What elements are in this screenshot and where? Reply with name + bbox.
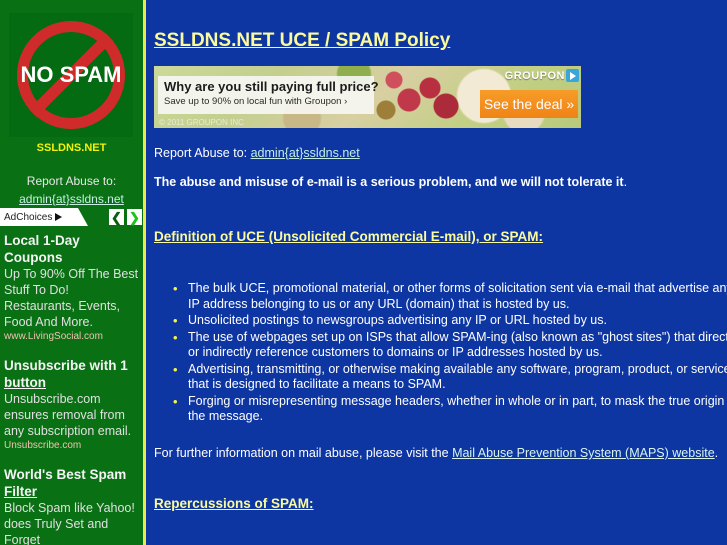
sidebar-ad-title-line1: World's Best Spam — [4, 467, 126, 482]
spam-definition-list: The bulk UCE, promotional material, or o… — [168, 281, 727, 426]
sidebar-brand-caption: SSLDNS.NET — [0, 142, 143, 154]
lead-statement: The abuse and misuse of e-mail is a seri… — [154, 175, 627, 189]
sidebar-ad-title-line1: Local 1-Day Coupons — [4, 233, 80, 265]
banner-cta-button[interactable]: See the deal » — [480, 90, 578, 118]
list-item: The use of webpages set up on ISPs that … — [188, 330, 727, 361]
section-heading-definition: Definition of UCE (Unsolicited Commercia… — [154, 229, 543, 244]
section-heading-repercussions: Repercussions of SPAM: — [154, 496, 314, 511]
sidebar-ad-title-line2: button — [4, 375, 46, 390]
list-item: The bulk UCE, promotional material, or o… — [188, 281, 727, 312]
ad-next-arrow-icon[interactable]: ❯ — [126, 208, 143, 226]
main-report-abuse-line: Report Abuse to: admin{at}ssldns.net — [154, 146, 360, 160]
adchoices-bar: AdChoices ❮ ❯ — [0, 208, 143, 226]
banner-subline: Save up to 90% on local fun with Groupon… — [164, 95, 368, 108]
adchoices-label: AdChoices — [4, 212, 52, 223]
banner-text-overlay: Why are you still paying full price? Sav… — [158, 76, 374, 114]
maps-website-link[interactable]: Mail Abuse Prevention System (MAPS) webs… — [452, 446, 715, 460]
sidebar-ad-title-line2: Filter — [4, 484, 37, 499]
sidebar-ad-title[interactable]: Local 1-Day Coupons — [4, 232, 141, 266]
adchoices-triangle-icon — [55, 213, 62, 221]
list-item: Forging or misrepresenting message heade… — [188, 394, 727, 425]
banner-headline: Why are you still paying full price? — [164, 79, 368, 95]
further-information-line: For further information on mail abuse, p… — [154, 446, 718, 460]
groupon-banner-ad[interactable]: Why are you still paying full price? Sav… — [154, 66, 581, 128]
banner-copyright: © 2011 GROUPON INC — [159, 118, 244, 127]
page-root: NO SPAM SSLDNS.NET Report Abuse to: admi… — [0, 0, 727, 545]
sidebar-ad-body: Unsubscribe.com ensures removal from any… — [4, 391, 141, 439]
no-spam-logo-text: NO SPAM — [9, 62, 133, 88]
main-content: SSLDNS.NET UCE / SPAM Policy Why are you… — [146, 0, 727, 545]
main-report-abuse-email-link[interactable]: admin{at}ssldns.net — [251, 146, 360, 160]
sidebar-ad-title-line1: Unsubscribe with 1 — [4, 358, 128, 373]
sidebar-ad-body: Block Spam like Yahoo! does Truly Set an… — [4, 500, 141, 545]
list-item: Unsolicited postings to newsgroups adver… — [188, 313, 727, 329]
sidebar-ad-url: Unsubscribe.com — [4, 439, 141, 453]
page-title: SSLDNS.NET UCE / SPAM Policy — [154, 30, 450, 52]
groupon-logo: GROUPON — [505, 70, 565, 82]
further-info-suffix: . — [715, 446, 718, 460]
sidebar-ad-body: Up To 90% Off The Best Stuff To Do! Rest… — [4, 266, 141, 330]
lead-statement-text: The abuse and misuse of e-mail is a seri… — [154, 175, 624, 189]
sidebar-ad-url: www.LivingSocial.com — [4, 330, 141, 344]
sidebar-report-abuse-email-link[interactable]: admin{at}ssldns.net — [0, 192, 143, 206]
no-spam-logo: NO SPAM — [9, 13, 133, 137]
adchoices-button[interactable]: AdChoices — [0, 208, 88, 226]
sidebar-ad-item[interactable]: Unsubscribe with 1 button Unsubscribe.co… — [4, 357, 141, 453]
sidebar-ads-list: Local 1-Day Coupons Up To 90% Off The Be… — [4, 232, 141, 545]
lead-statement-period: . — [624, 175, 627, 189]
list-item: Advertising, transmitting, or otherwise … — [188, 362, 727, 393]
sidebar-ad-title[interactable]: Unsubscribe with 1 button — [4, 357, 141, 391]
sidebar-ad-item[interactable]: World's Best Spam Filter Block Spam like… — [4, 466, 141, 545]
banner-adchoices-icon[interactable] — [566, 69, 579, 82]
sidebar-ad-title[interactable]: World's Best Spam Filter — [4, 466, 141, 500]
further-info-prefix: For further information on mail abuse, p… — [154, 446, 452, 460]
sidebar-report-abuse-label: Report Abuse to: — [0, 174, 143, 188]
main-report-abuse-label: Report Abuse to: — [154, 146, 247, 160]
left-sidebar: NO SPAM SSLDNS.NET Report Abuse to: admi… — [0, 0, 143, 545]
sidebar-ad-item[interactable]: Local 1-Day Coupons Up To 90% Off The Be… — [4, 232, 141, 344]
ad-prev-arrow-icon[interactable]: ❮ — [108, 208, 125, 226]
